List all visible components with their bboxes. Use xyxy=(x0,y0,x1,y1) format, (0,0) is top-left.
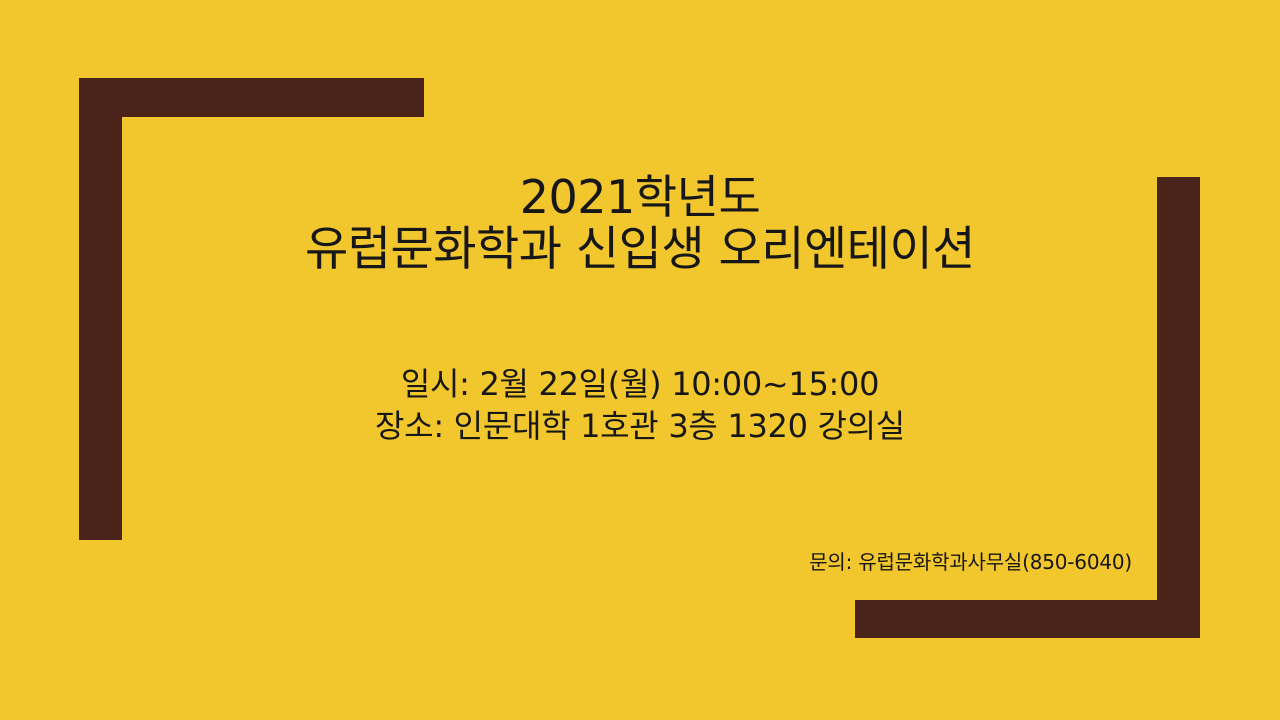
title-line-academic-year: 2021학년도 xyxy=(0,172,1280,224)
contact-info: 문의: 유럽문화학과사무실(850-6040) xyxy=(0,546,1132,575)
page-title: 2021학년도 유럽문화학과 신입생 오리엔테이션 xyxy=(0,172,1280,276)
event-datetime: 일시: 2월 22일(월) 10:00~15:00 xyxy=(0,363,1280,405)
title-line-event-name: 유럽문화학과 신입생 오리엔테이션 xyxy=(0,224,1280,277)
bottom-right-bracket-horizontal-bar xyxy=(855,600,1200,638)
top-left-bracket-horizontal-bar xyxy=(79,78,424,117)
event-details: 일시: 2월 22일(월) 10:00~15:00 장소: 인문대학 1호관 3… xyxy=(0,363,1280,447)
top-left-bracket-vertical-bar xyxy=(79,78,122,540)
event-location: 장소: 인문대학 1호관 3층 1320 강의실 xyxy=(0,405,1280,447)
poster-slide: 2021학년도 유럽문화학과 신입생 오리엔테이션 일시: 2월 22일(월) … xyxy=(0,0,1280,720)
